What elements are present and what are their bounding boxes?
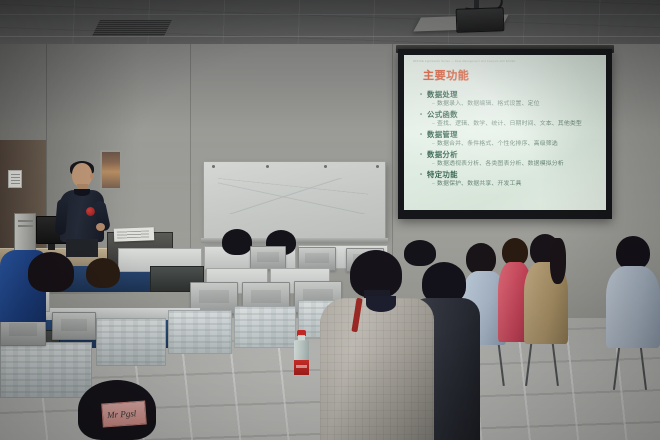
monitor-stand [48, 244, 55, 250]
desk-label-text: Mr Pgsl [107, 408, 137, 420]
projection-screen: OFFICE Application Series — Data Managem… [398, 49, 612, 219]
water-bottle [294, 330, 309, 374]
slide-section-detail: 数据透视表分析、各类图表分析、数据模拟分析 [437, 160, 598, 169]
slide-section-detail: 数据合并、条件格式、个性化排序、高级筛选 [437, 140, 598, 149]
slide-section-detail: 数据录入、数据编辑、格式设置、定位 [437, 100, 598, 109]
bottle-body [294, 340, 309, 374]
monitor-screen [96, 318, 166, 366]
attendee-long-hair [550, 238, 566, 284]
student-head [222, 229, 252, 255]
ceiling-seam [0, 14, 660, 15]
presenter-lower-body [66, 239, 98, 257]
slide-section-detail: 数据保护、数据共享、开发工具 [437, 180, 598, 189]
attendee-torso [606, 266, 660, 348]
monitor-rear [250, 246, 286, 270]
projector-icon [456, 7, 505, 33]
paper-text-lines [117, 230, 149, 238]
slide-section: 数据管理 数据合并、条件格式、个性化排序、高级筛选 [427, 130, 598, 149]
bottle-label [294, 360, 309, 375]
presentation-slide: OFFICE Application Series — Data Managem… [404, 55, 606, 210]
desk-label-sticker: Mr Pgsl [101, 400, 147, 427]
whiteboard [203, 161, 386, 239]
slide-title: 主要功能 [423, 67, 598, 83]
slide-section: 公式函数 查找、逻辑、数学、统计、日期时间、文本、其他类型 [427, 110, 598, 129]
attendee-suit-jacket [320, 298, 434, 440]
whiteboard-screw [324, 165, 327, 168]
monitor-screen [0, 342, 92, 398]
presenter-ear [90, 173, 94, 179]
foreground-attendee-suit [318, 250, 436, 440]
slide-section: 特定功能 数据保护、数据共享、开发工具 [427, 170, 598, 189]
student-head [28, 252, 74, 292]
jacket-collar [366, 296, 396, 312]
presenter-hand [96, 223, 105, 231]
monitor-screen [168, 310, 232, 354]
presenter-collar [74, 189, 90, 196]
ceiling [0, 0, 660, 50]
whiteboard-faint-writing [226, 186, 346, 206]
seated-attendee [524, 234, 570, 344]
slide-section: 数据分析 数据透视表分析、各类图表分析、数据模拟分析 [427, 150, 598, 169]
slide-section-detail: 查找、逻辑、数学、统计、日期时间、文本、其他类型 [437, 120, 598, 129]
student-head [86, 258, 120, 288]
notice-text-lines [11, 174, 20, 185]
monitor-screen [234, 306, 296, 348]
ceiling-seam [0, 36, 660, 37]
ceiling-vent-icon [92, 20, 172, 36]
desktop-pc-tower [14, 213, 36, 253]
jacket-fabric-texture [320, 298, 434, 440]
slide-section-heading: 公式函数 [427, 110, 598, 120]
whiteboard-screw [376, 165, 379, 168]
slide-header-text: OFFICE Application Series — Data Managem… [413, 60, 598, 63]
attendee-head [616, 236, 650, 270]
pc-drive-slot [18, 220, 33, 222]
classroom-scene: OFFICE Application Series — Data Managem… [0, 0, 660, 440]
whiteboard-screw [266, 165, 269, 168]
whiteboard-screw [212, 165, 215, 168]
slide-section-heading: 数据分析 [427, 150, 598, 160]
slide-section-heading: 数据处理 [427, 90, 598, 100]
wall-notice-sheet [8, 170, 22, 188]
slide-section-heading: 特定功能 [427, 170, 598, 180]
seated-attendee [606, 236, 660, 346]
pc-drive-slot [18, 225, 33, 227]
lecture-notes-paper [114, 227, 154, 241]
slide-section-heading: 数据管理 [427, 130, 598, 140]
presenter [56, 163, 112, 255]
slide-section: 数据处理 数据录入、数据编辑、格式设置、定位 [427, 90, 598, 109]
monitor-rear [52, 312, 96, 340]
